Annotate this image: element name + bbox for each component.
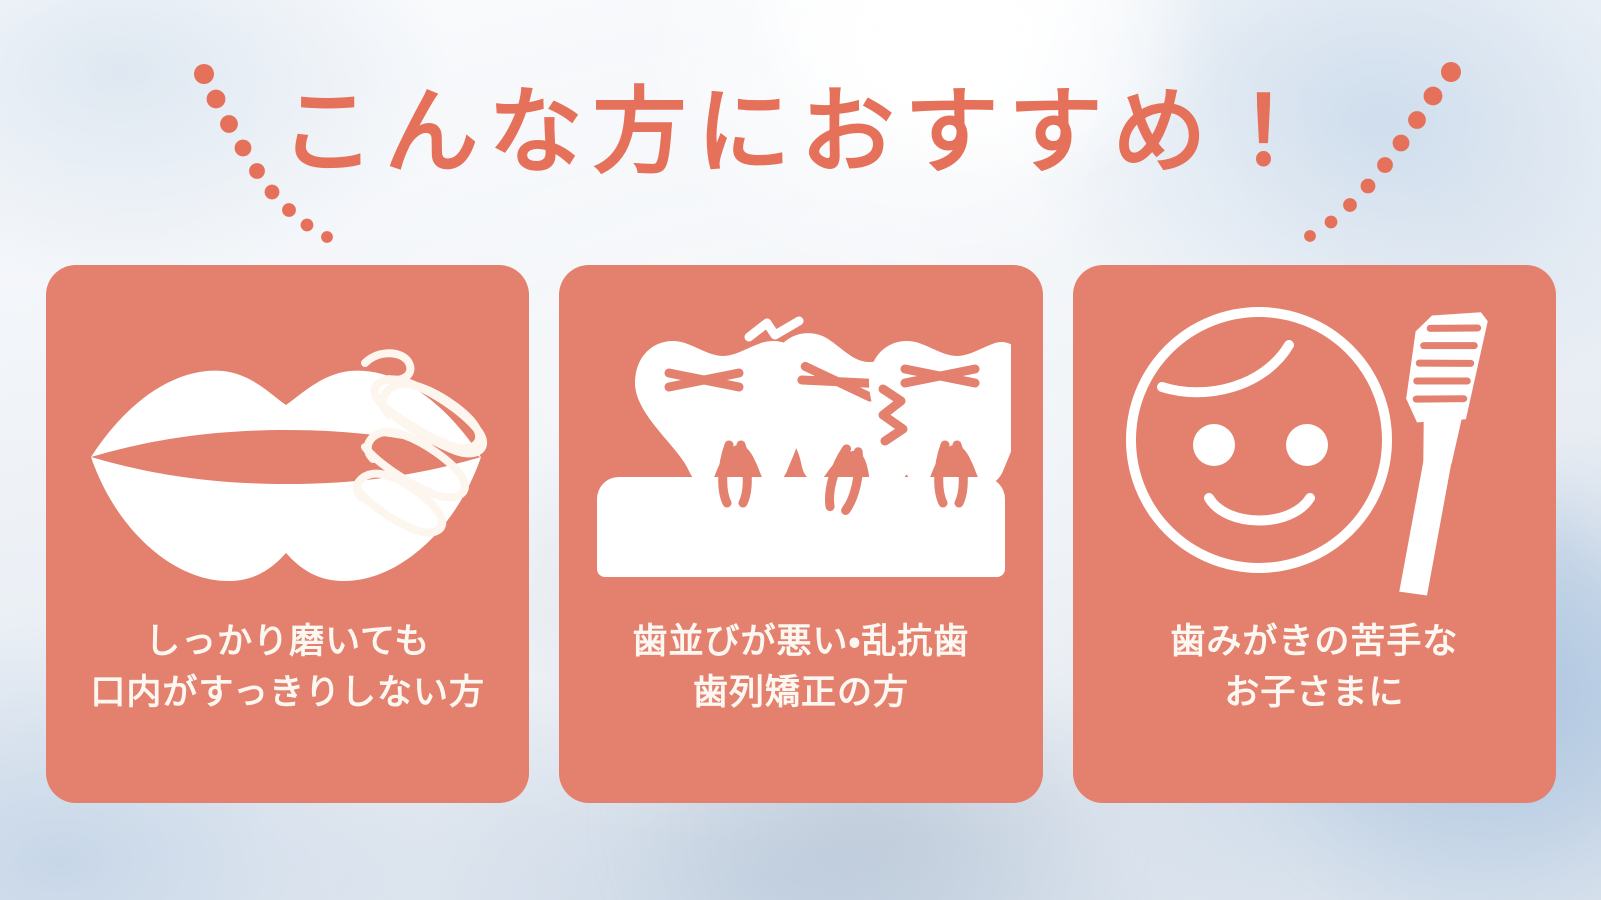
card-2-caption-line-1: 歯並びが悪い・乱抗歯 [559,617,1042,668]
card-1-caption-line-2: 口内がすっきりしない方 [46,668,529,719]
card-3-artwork [1073,265,1556,625]
recommendation-card-2[interactable]: 歯並びが悪い・乱抗歯 歯列矯正の方 [559,265,1042,803]
toothbrush-icon [1380,304,1489,599]
crooked-teeth-gum-icon [591,295,1011,595]
recommendation-card-1[interactable]: しっかり磨いても 口内がすっきりしない方 [46,265,529,803]
recommendation-card-list: しっかり磨いても 口内がすっきりしない方 [46,265,1556,803]
hair-curl-icon [1162,345,1289,392]
card-1-caption-line-1: しっかり磨いても [46,617,529,668]
smile-icon [1209,498,1310,521]
card-3-caption-line-2: お子さまに [1073,668,1556,719]
card-2-artwork [559,265,1042,625]
card-3-caption-line-1: 歯みがきの苦手な [1073,617,1556,668]
lips-mouth-icon [73,275,503,615]
spark-zigzag-icon [749,321,799,337]
child-smiling-face-icon [1114,285,1514,605]
left-eye-icon [1193,424,1235,466]
promo-banner: こんな方におすすめ！ しっか [0,0,1601,900]
card-2-caption-line-2: 歯列矯正の方 [559,668,1042,719]
right-eye-icon [1286,424,1328,466]
heading-section: こんな方におすすめ！ [0,58,1601,238]
card-1-caption: しっかり磨いても 口内がすっきりしない方 [46,617,529,719]
recommendation-card-3[interactable]: 歯みがきの苦手な お子さまに [1073,265,1556,803]
card-3-caption: 歯みがきの苦手な お子さまに [1073,617,1556,719]
page-title: こんな方におすすめ！ [0,58,1601,208]
card-2-caption: 歯並びが悪い・乱抗歯 歯列矯正の方 [559,617,1042,719]
card-1-artwork [46,265,529,625]
